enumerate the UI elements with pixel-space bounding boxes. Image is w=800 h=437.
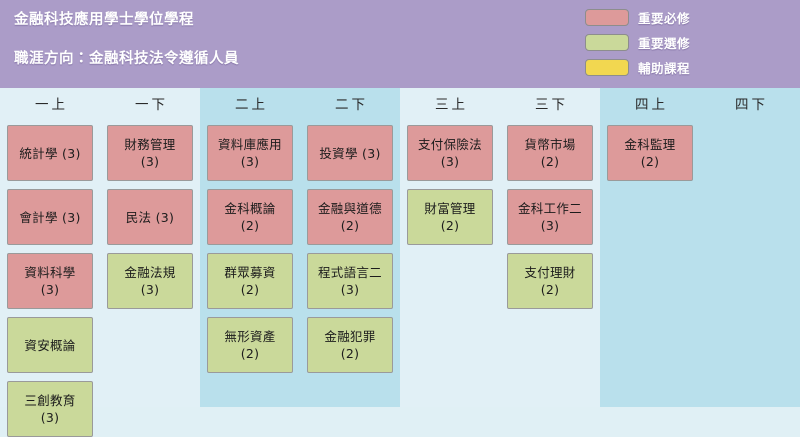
course-card[interactable]: 金科概論 (2) <box>207 189 293 245</box>
course-card[interactable]: 資安概論 <box>7 317 93 373</box>
course-card[interactable]: 財富管理 (2) <box>407 189 493 245</box>
course-card[interactable]: 統計學 (3) <box>7 125 93 181</box>
course-card-label: 財務管理 (3) <box>124 136 175 170</box>
course-card[interactable]: 貨幣市場 (2) <box>507 125 593 181</box>
course-card-list: 貨幣市場 (2)金科工作二 (3)支付理財 (2) <box>507 125 593 309</box>
semester-column-3: 二上資料庫應用 (3)金科概論 (2)群眾募資 (2)無形資產 (2) <box>200 88 300 407</box>
course-card[interactable]: 資料庫應用 (3) <box>207 125 293 181</box>
course-card-label: 金融法規 (3) <box>124 264 175 298</box>
course-card-label: 無形資產 (2) <box>224 328 275 362</box>
course-card[interactable]: 金融法規 (3) <box>107 253 193 309</box>
semester-header: 二下 <box>332 97 368 113</box>
semester-column-5: 三上支付保險法 (3)財富管理 (2) <box>400 88 500 407</box>
course-card[interactable]: 財務管理 (3) <box>107 125 193 181</box>
semester-column-7: 四上金科監理 (2) <box>600 88 700 407</box>
legend-label-required: 重要必修 <box>638 8 690 27</box>
course-card-label: 三創教育 (3) <box>24 392 75 426</box>
semester-header: 一下 <box>132 97 168 113</box>
course-card-list: 金科監理 (2) <box>607 125 693 181</box>
course-card-label: 財富管理 (2) <box>424 200 475 234</box>
semester-header: 一上 <box>32 97 68 113</box>
course-card-label: 金科監理 (2) <box>624 136 675 170</box>
course-card-label: 金科工作二 (3) <box>518 200 582 234</box>
course-card-label: 資料庫應用 (3) <box>218 136 282 170</box>
semester-header: 四下 <box>732 97 768 113</box>
course-card-label: 投資學 (3) <box>319 145 380 162</box>
course-card-label: 群眾募資 (2) <box>224 264 275 298</box>
course-card-label: 資料科學 (3) <box>24 264 75 298</box>
semester-column-8: 四下 <box>700 88 800 407</box>
legend-item-elective: 重要選修 <box>585 33 690 52</box>
course-card[interactable]: 資料科學 (3) <box>7 253 93 309</box>
legend-swatch-required <box>585 9 629 26</box>
semester-header: 三下 <box>532 97 568 113</box>
course-card-label: 支付理財 (2) <box>524 264 575 298</box>
course-card-label: 金融犯罪 (2) <box>324 328 375 362</box>
semester-column-4: 二下投資學 (3)金融與道德 (2)程式語言二 (3)金融犯罪 (2) <box>300 88 400 407</box>
course-card[interactable]: 投資學 (3) <box>307 125 393 181</box>
course-card-list: 資料庫應用 (3)金科概論 (2)群眾募資 (2)無形資產 (2) <box>207 125 293 373</box>
semester-header: 二上 <box>232 97 268 113</box>
legend-label-elective: 重要選修 <box>638 33 690 52</box>
semester-header: 三上 <box>432 97 468 113</box>
course-card[interactable]: 會計學 (3) <box>7 189 93 245</box>
legend-swatch-elective <box>585 34 629 51</box>
course-card-label: 會計學 (3) <box>19 209 80 226</box>
course-card[interactable]: 支付保險法 (3) <box>407 125 493 181</box>
course-card-list: 財務管理 (3)民法 (3)金融法規 (3) <box>107 125 193 309</box>
course-card-label: 金融與道德 (2) <box>318 200 382 234</box>
course-card[interactable]: 金融與道德 (2) <box>307 189 393 245</box>
semester-column-1: 一上統計學 (3)會計學 (3)資料科學 (3)資安概論三創教育 (3) <box>0 88 100 407</box>
course-card-label: 民法 (3) <box>126 209 174 226</box>
legend-label-support: 輔助課程 <box>638 58 690 77</box>
course-card-label: 金科概論 (2) <box>224 200 275 234</box>
course-card-label: 統計學 (3) <box>19 145 80 162</box>
course-card[interactable]: 支付理財 (2) <box>507 253 593 309</box>
semester-column-6: 三下貨幣市場 (2)金科工作二 (3)支付理財 (2) <box>500 88 600 407</box>
course-card[interactable]: 無形資產 (2) <box>207 317 293 373</box>
course-card-label: 程式語言二 (3) <box>318 264 382 298</box>
legend-swatch-support <box>585 59 629 76</box>
course-card[interactable]: 金科監理 (2) <box>607 125 693 181</box>
semester-header: 四上 <box>632 97 668 113</box>
course-card[interactable]: 三創教育 (3) <box>7 381 93 437</box>
legend: 重要必修重要選修輔助課程 <box>585 8 690 77</box>
course-card-list: 支付保險法 (3)財富管理 (2) <box>407 125 493 245</box>
course-card[interactable]: 群眾募資 (2) <box>207 253 293 309</box>
course-card[interactable]: 程式語言二 (3) <box>307 253 393 309</box>
course-card-list: 統計學 (3)會計學 (3)資料科學 (3)資安概論三創教育 (3) <box>7 125 93 437</box>
course-card[interactable]: 金融犯罪 (2) <box>307 317 393 373</box>
course-card-label: 貨幣市場 (2) <box>524 136 575 170</box>
course-card-list: 投資學 (3)金融與道德 (2)程式語言二 (3)金融犯罪 (2) <box>307 125 393 373</box>
course-card-label: 支付保險法 (3) <box>418 136 482 170</box>
semester-column-2: 一下財務管理 (3)民法 (3)金融法規 (3) <box>100 88 200 407</box>
curriculum-map-root: 金融科技應用學士學位學程 職涯方向：金融科技法令遵循人員 重要必修重要選修輔助課… <box>0 0 800 407</box>
legend-item-required: 重要必修 <box>585 8 690 27</box>
course-card[interactable]: 金科工作二 (3) <box>507 189 593 245</box>
legend-item-support: 輔助課程 <box>585 58 690 77</box>
course-card-label: 資安概論 <box>24 337 75 354</box>
semester-grid: 一上統計學 (3)會計學 (3)資料科學 (3)資安概論三創教育 (3)一下財務… <box>0 88 800 407</box>
course-card[interactable]: 民法 (3) <box>107 189 193 245</box>
